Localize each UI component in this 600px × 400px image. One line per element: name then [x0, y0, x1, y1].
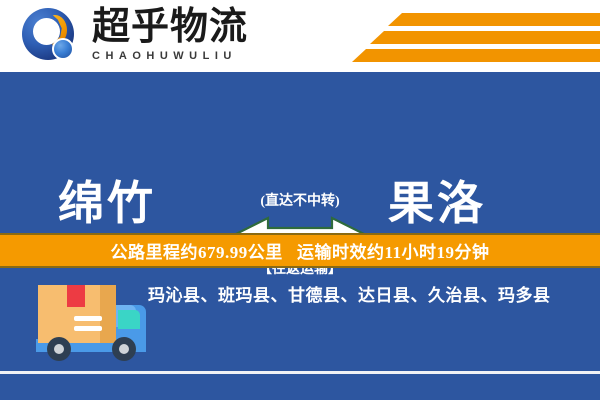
brand-pinyin: CHAOHUWULIU — [92, 49, 282, 63]
truck-front-wheel — [112, 337, 136, 361]
truck-window-shape — [118, 310, 140, 329]
brand-text-block: 超乎物流 CHAOHUWULIU — [92, 6, 282, 63]
covered-counties-list: 玛沁县、班玛县、甘德县、达日县、久治县、玛多县 — [148, 281, 588, 306]
logo-small-dot-shape — [52, 38, 74, 60]
header-stripe-2 — [370, 31, 600, 44]
truck-cargo-tape-shape — [67, 285, 85, 307]
chaohu-logistics-logo-icon — [22, 8, 80, 66]
truck-rear-wheel-hub — [54, 344, 64, 354]
truck-cargo-stripe-1 — [74, 316, 102, 321]
distance-duration-text: 公路里程约679.99公里 运输时效约11小时19分钟 — [110, 238, 489, 263]
origin-city-name: 绵竹 — [58, 167, 156, 233]
header-stripe-3 — [352, 49, 600, 62]
destination-city-name: 果洛 — [388, 167, 486, 233]
direct-shipping-note: (直达不中转) — [225, 190, 375, 210]
truck-cargo-box-shade-shape — [100, 285, 116, 343]
route-section: 绵竹 (直达不中转) 【往返运输】 果洛 — [0, 72, 600, 233]
logistics-route-banner: 超乎物流 CHAOHUWULIU 绵竹 (直达不中转) 【往返运输】 果洛 公路… — [0, 0, 600, 400]
truck-rear-wheel — [47, 337, 71, 361]
truck-front-wheel-hub — [119, 344, 129, 354]
road-line — [0, 371, 600, 374]
brand-header: 超乎物流 CHAOHUWULIU — [0, 0, 600, 72]
truck-cargo-stripe-2 — [74, 326, 102, 331]
header-stripe-1 — [388, 13, 600, 26]
distance-duration-bar: 公路里程约679.99公里 运输时效约11小时19分钟 — [0, 233, 600, 268]
brand-name: 超乎物流 — [92, 6, 282, 48]
delivery-truck-icon — [22, 277, 150, 373]
